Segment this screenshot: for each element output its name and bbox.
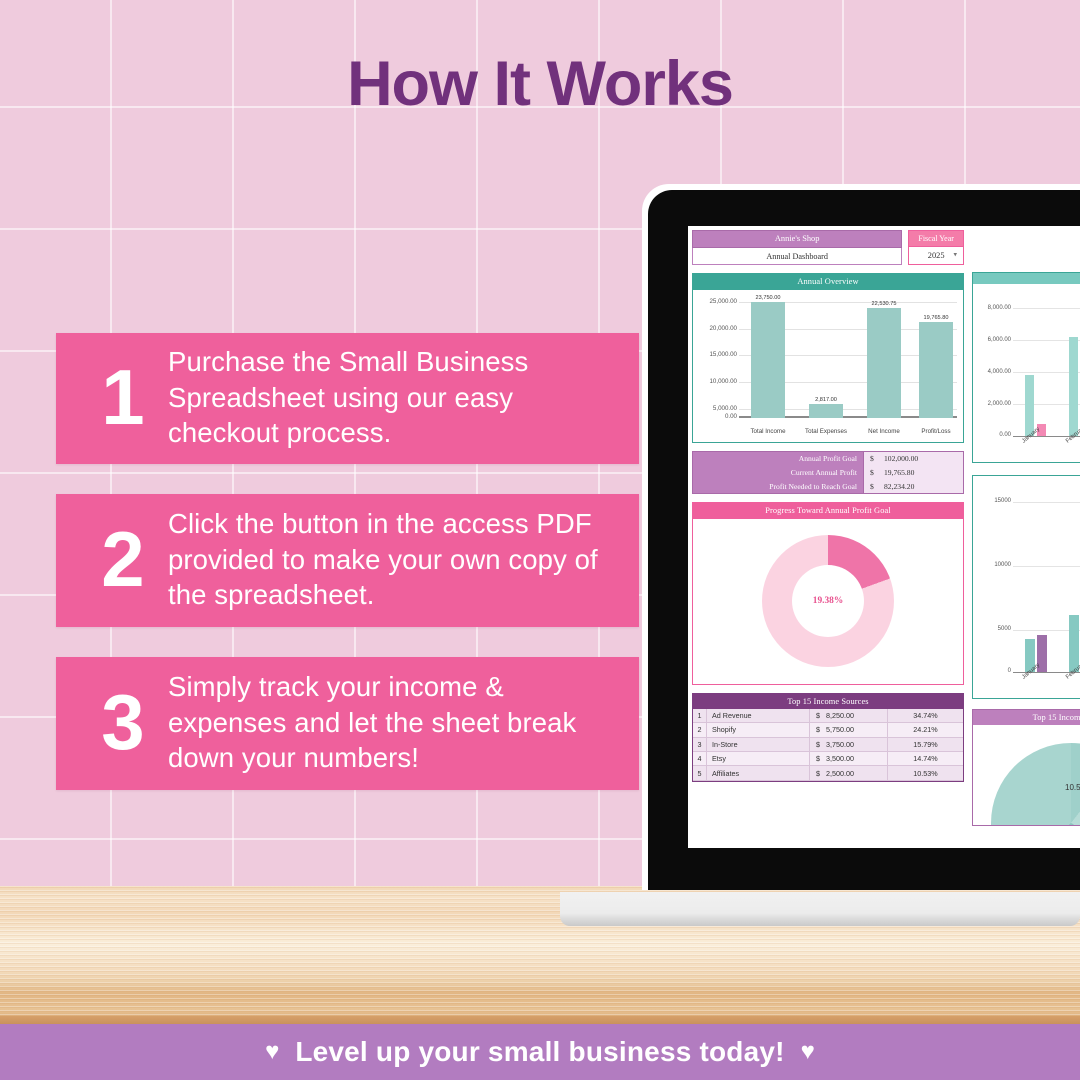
bar-label-total-income: 23,750.00 <box>756 295 781 301</box>
progress-chart-title: Progress Toward Annual Profit Goal <box>693 503 963 518</box>
y-tick-15000: 15,000.00 <box>697 351 737 358</box>
bar-february-income[interactable] <box>1069 337 1078 436</box>
step-card-2[interactable]: 2 Click the button in the access PDF pro… <box>56 494 639 627</box>
row-percent: 15.79% <box>887 738 963 751</box>
income-sources-table[interactable]: Top 15 Income Sources 1 Ad Revenue $ 8,2… <box>692 693 964 782</box>
income-sources-pie-title: Top 15 Income S <box>973 710 1080 725</box>
y-tick-10000: 10,000.00 <box>697 378 737 385</box>
annual-overview-chart[interactable]: Annual Overview 25,000.00 20,000.00 15,0… <box>692 273 964 442</box>
footer-text: Level up your small business today! <box>295 1036 784 1068</box>
laptop-base <box>560 892 1080 926</box>
heart-icon: ♥ <box>265 1038 279 1066</box>
spreadsheet-dashboard[interactable]: Annie's Shop Annual Dashboard Fiscal Yea… <box>688 226 1080 848</box>
row-amount: $ 3,750.00 <box>809 738 887 751</box>
step-number-1: 1 <box>76 362 168 434</box>
fiscal-year-block: Fiscal Year 2025 ▾ <box>908 230 964 265</box>
profit-goal-value-1: 19,765.80 <box>884 468 914 477</box>
row-amount-value: 2,500.00 <box>826 769 854 778</box>
profit-goal-label-2: Profit Needed to Reach Goal <box>693 479 863 493</box>
step-card-1[interactable]: 1 Purchase the Small Business Spreadshee… <box>56 333 639 464</box>
currency-symbol: $ <box>870 482 878 491</box>
row-amount-value: 5,750.00 <box>826 725 854 734</box>
chevron-down-icon: ▾ <box>953 251 957 259</box>
y-tick-5000: 5000 <box>973 626 1011 632</box>
pie-data-label: 10.5% <box>1065 783 1080 792</box>
x-label-net-income: Net Income <box>855 429 913 436</box>
income-sources-pie-chart[interactable]: Top 15 Income S 10.5% <box>972 709 1080 826</box>
donut-hole: 19.38% <box>792 565 864 637</box>
row-amount-value: 8,250.00 <box>826 711 854 720</box>
row-rank: 4 <box>693 752 707 765</box>
row-percent: 10.53% <box>887 766 963 779</box>
y-tick-4000: 4,000.00 <box>973 369 1011 375</box>
shop-title-block: Annie's Shop Annual Dashboard <box>692 230 902 265</box>
y-tick-20000: 20,000.00 <box>697 325 737 332</box>
row-rank: 5 <box>693 766 707 779</box>
y-tick-0: 0 <box>973 668 1011 674</box>
monthly-income-expenses-chart[interactable]: 8,000.00 6,000.00 4,000.00 2,000.00 0.00… <box>972 272 1080 463</box>
row-amount: $ 8,250.00 <box>809 709 887 722</box>
profit-goal-label-0: Annual Profit Goal <box>693 452 863 466</box>
y-tick-6000: 6,000.00 <box>973 337 1011 343</box>
step-card-3[interactable]: 3 Simply track your income & expenses an… <box>56 657 639 790</box>
row-name: Ad Revenue <box>707 709 809 722</box>
steps-list: 1 Purchase the Small Business Spreadshee… <box>56 333 639 820</box>
currency-symbol: $ <box>870 454 878 463</box>
y-tick-10000: 10000 <box>973 562 1011 568</box>
row-amount: $ 3,500.00 <box>809 752 887 765</box>
table-row[interactable]: 2 Shopify $ 5,750.00 24.21% <box>693 723 963 737</box>
step-text-1: Purchase the Small Business Spreadsheet … <box>168 344 625 451</box>
row-amount: $ 5,750.00 <box>809 723 887 736</box>
monthly-comparison-plot: 15000 10000 5000 0 January February Marc… <box>973 476 1080 698</box>
fiscal-year-value: 2025 <box>928 251 945 260</box>
desk-front-edge <box>0 1016 1080 1024</box>
progress-donut-chart[interactable]: Progress Toward Annual Profit Goal 19.38… <box>692 502 964 684</box>
step-number-3: 3 <box>76 687 168 759</box>
row-name: Shopify <box>707 723 809 736</box>
currency-symbol: $ <box>810 740 820 749</box>
bar-label-total-expenses: 2,817.00 <box>815 397 837 403</box>
annual-overview-title: Annual Overview <box>693 274 963 289</box>
profit-goal-values: $ 102,000.00 $ 19,765.80 $ 82,234.20 <box>863 452 963 493</box>
y-tick-25000: 25,000.00 <box>697 298 737 305</box>
profit-goal-label-1: Current Annual Profit <box>693 466 863 480</box>
row-rank: 3 <box>693 738 707 751</box>
y-tick-0: 0.00 <box>697 413 737 420</box>
row-name: Affiliates <box>707 766 809 779</box>
currency-symbol: $ <box>810 711 820 720</box>
donut-ring: 19.38% <box>762 535 894 667</box>
fiscal-year-select[interactable]: 2025 ▾ <box>908 247 964 264</box>
profit-goal-value-row-1: $ 19,765.80 <box>864 466 963 480</box>
currency-symbol: $ <box>810 725 820 734</box>
profit-goal-value-row-0: $ 102,000.00 <box>864 452 963 466</box>
monthly-comparison-chart[interactable]: 15000 10000 5000 0 January February Marc… <box>972 475 1080 699</box>
row-amount: $ 2,500.00 <box>809 766 887 779</box>
donut-center-label: 19.38% <box>813 596 843 606</box>
shop-name-cell: Annie's Shop <box>692 230 902 248</box>
profit-goal-labels: Annual Profit Goal Current Annual Profit… <box>693 452 863 493</box>
dashboard-title-row: Annie's Shop Annual Dashboard Fiscal Yea… <box>692 230 964 265</box>
bar-february-a[interactable] <box>1069 615 1079 672</box>
dashboard-left-column: Annie's Shop Annual Dashboard Fiscal Yea… <box>692 230 964 790</box>
laptop-screen-bezel: Annie's Shop Annual Dashboard Fiscal Yea… <box>648 190 1080 890</box>
row-amount-value: 3,500.00 <box>826 754 854 763</box>
table-row[interactable]: 3 In-Store $ 3,750.00 15.79% <box>693 738 963 752</box>
table-row[interactable]: 4 Etsy $ 3,500.00 14.74% <box>693 752 963 766</box>
profit-goal-value-0: 102,000.00 <box>884 454 918 463</box>
profit-goal-value-2: 82,234.20 <box>884 482 914 491</box>
dashboard-right-column: 8,000.00 6,000.00 4,000.00 2,000.00 0.00… <box>972 230 1080 834</box>
bar-total-expenses[interactable]: 2,817.00 <box>809 404 843 418</box>
income-sources-title: Top 15 Income Sources <box>693 694 963 709</box>
page-title: How It Works <box>0 48 1080 120</box>
currency-symbol: $ <box>870 468 878 477</box>
row-name: In-Store <box>707 738 809 751</box>
y-tick-8000: 8,000.00 <box>973 305 1011 311</box>
row-rank: 2 <box>693 723 707 736</box>
y-tick-2000: 2,000.00 <box>973 401 1011 407</box>
bar-label-net-income: 22,530.75 <box>872 301 897 307</box>
table-row[interactable]: 5 Affiliates $ 2,500.00 10.53% <box>693 766 963 780</box>
row-percent: 14.74% <box>887 752 963 765</box>
x-label-total-expenses: Total Expenses <box>797 429 855 436</box>
annual-overview-plot: 25,000.00 20,000.00 15,000.00 10,000.00 … <box>693 290 963 442</box>
y-tick-5000: 5,000.00 <box>697 405 737 412</box>
profit-goal-table[interactable]: Annual Profit Goal Current Annual Profit… <box>692 451 964 494</box>
row-percent: 34.74% <box>887 709 963 722</box>
footer-banner: ♥ Level up your small business today! ♥ <box>0 1024 1080 1080</box>
bar-net-income[interactable]: 22,530.75 <box>867 308 901 418</box>
monthly-chart-title <box>973 273 1080 284</box>
dashboard-name-cell[interactable]: Annual Dashboard <box>692 248 902 266</box>
donut-plot: 19.38% <box>693 519 963 684</box>
row-rank: 1 <box>693 709 707 722</box>
bar-label-profit-loss: 19,765.80 <box>924 315 949 321</box>
row-amount-value: 3,750.00 <box>826 740 854 749</box>
table-row[interactable]: 1 Ad Revenue $ 8,250.00 34.74% <box>693 709 963 723</box>
row-percent: 24.21% <box>887 723 963 736</box>
y-tick-15000: 15000 <box>973 498 1011 504</box>
step-number-2: 2 <box>76 524 168 596</box>
monthly-chart-plot: 8,000.00 6,000.00 4,000.00 2,000.00 0.00… <box>973 284 1080 462</box>
heart-icon: ♥ <box>801 1038 815 1066</box>
currency-symbol: $ <box>810 754 820 763</box>
step-text-3: Simply track your income & expenses and … <box>168 669 625 776</box>
step-text-2: Click the button in the access PDF provi… <box>168 506 625 613</box>
fiscal-year-label: Fiscal Year <box>908 230 964 247</box>
bar-profit-loss[interactable]: 19,765.80 <box>919 322 953 418</box>
currency-symbol: $ <box>810 769 820 778</box>
row-name: Etsy <box>707 752 809 765</box>
x-label-profit-loss: Profit/Loss <box>907 429 965 436</box>
income-sources-pie-plot: 10.5% <box>973 725 1080 825</box>
bar-total-income[interactable]: 23,750.00 <box>751 302 785 418</box>
y-tick-0: 0.00 <box>973 432 1011 438</box>
x-label-total-income: Total Income <box>739 429 797 436</box>
laptop-mockup: Annie's Shop Annual Dashboard Fiscal Yea… <box>648 190 1080 892</box>
bar-january-income[interactable] <box>1025 375 1034 436</box>
profit-goal-value-row-2: $ 82,234.20 <box>864 479 963 493</box>
